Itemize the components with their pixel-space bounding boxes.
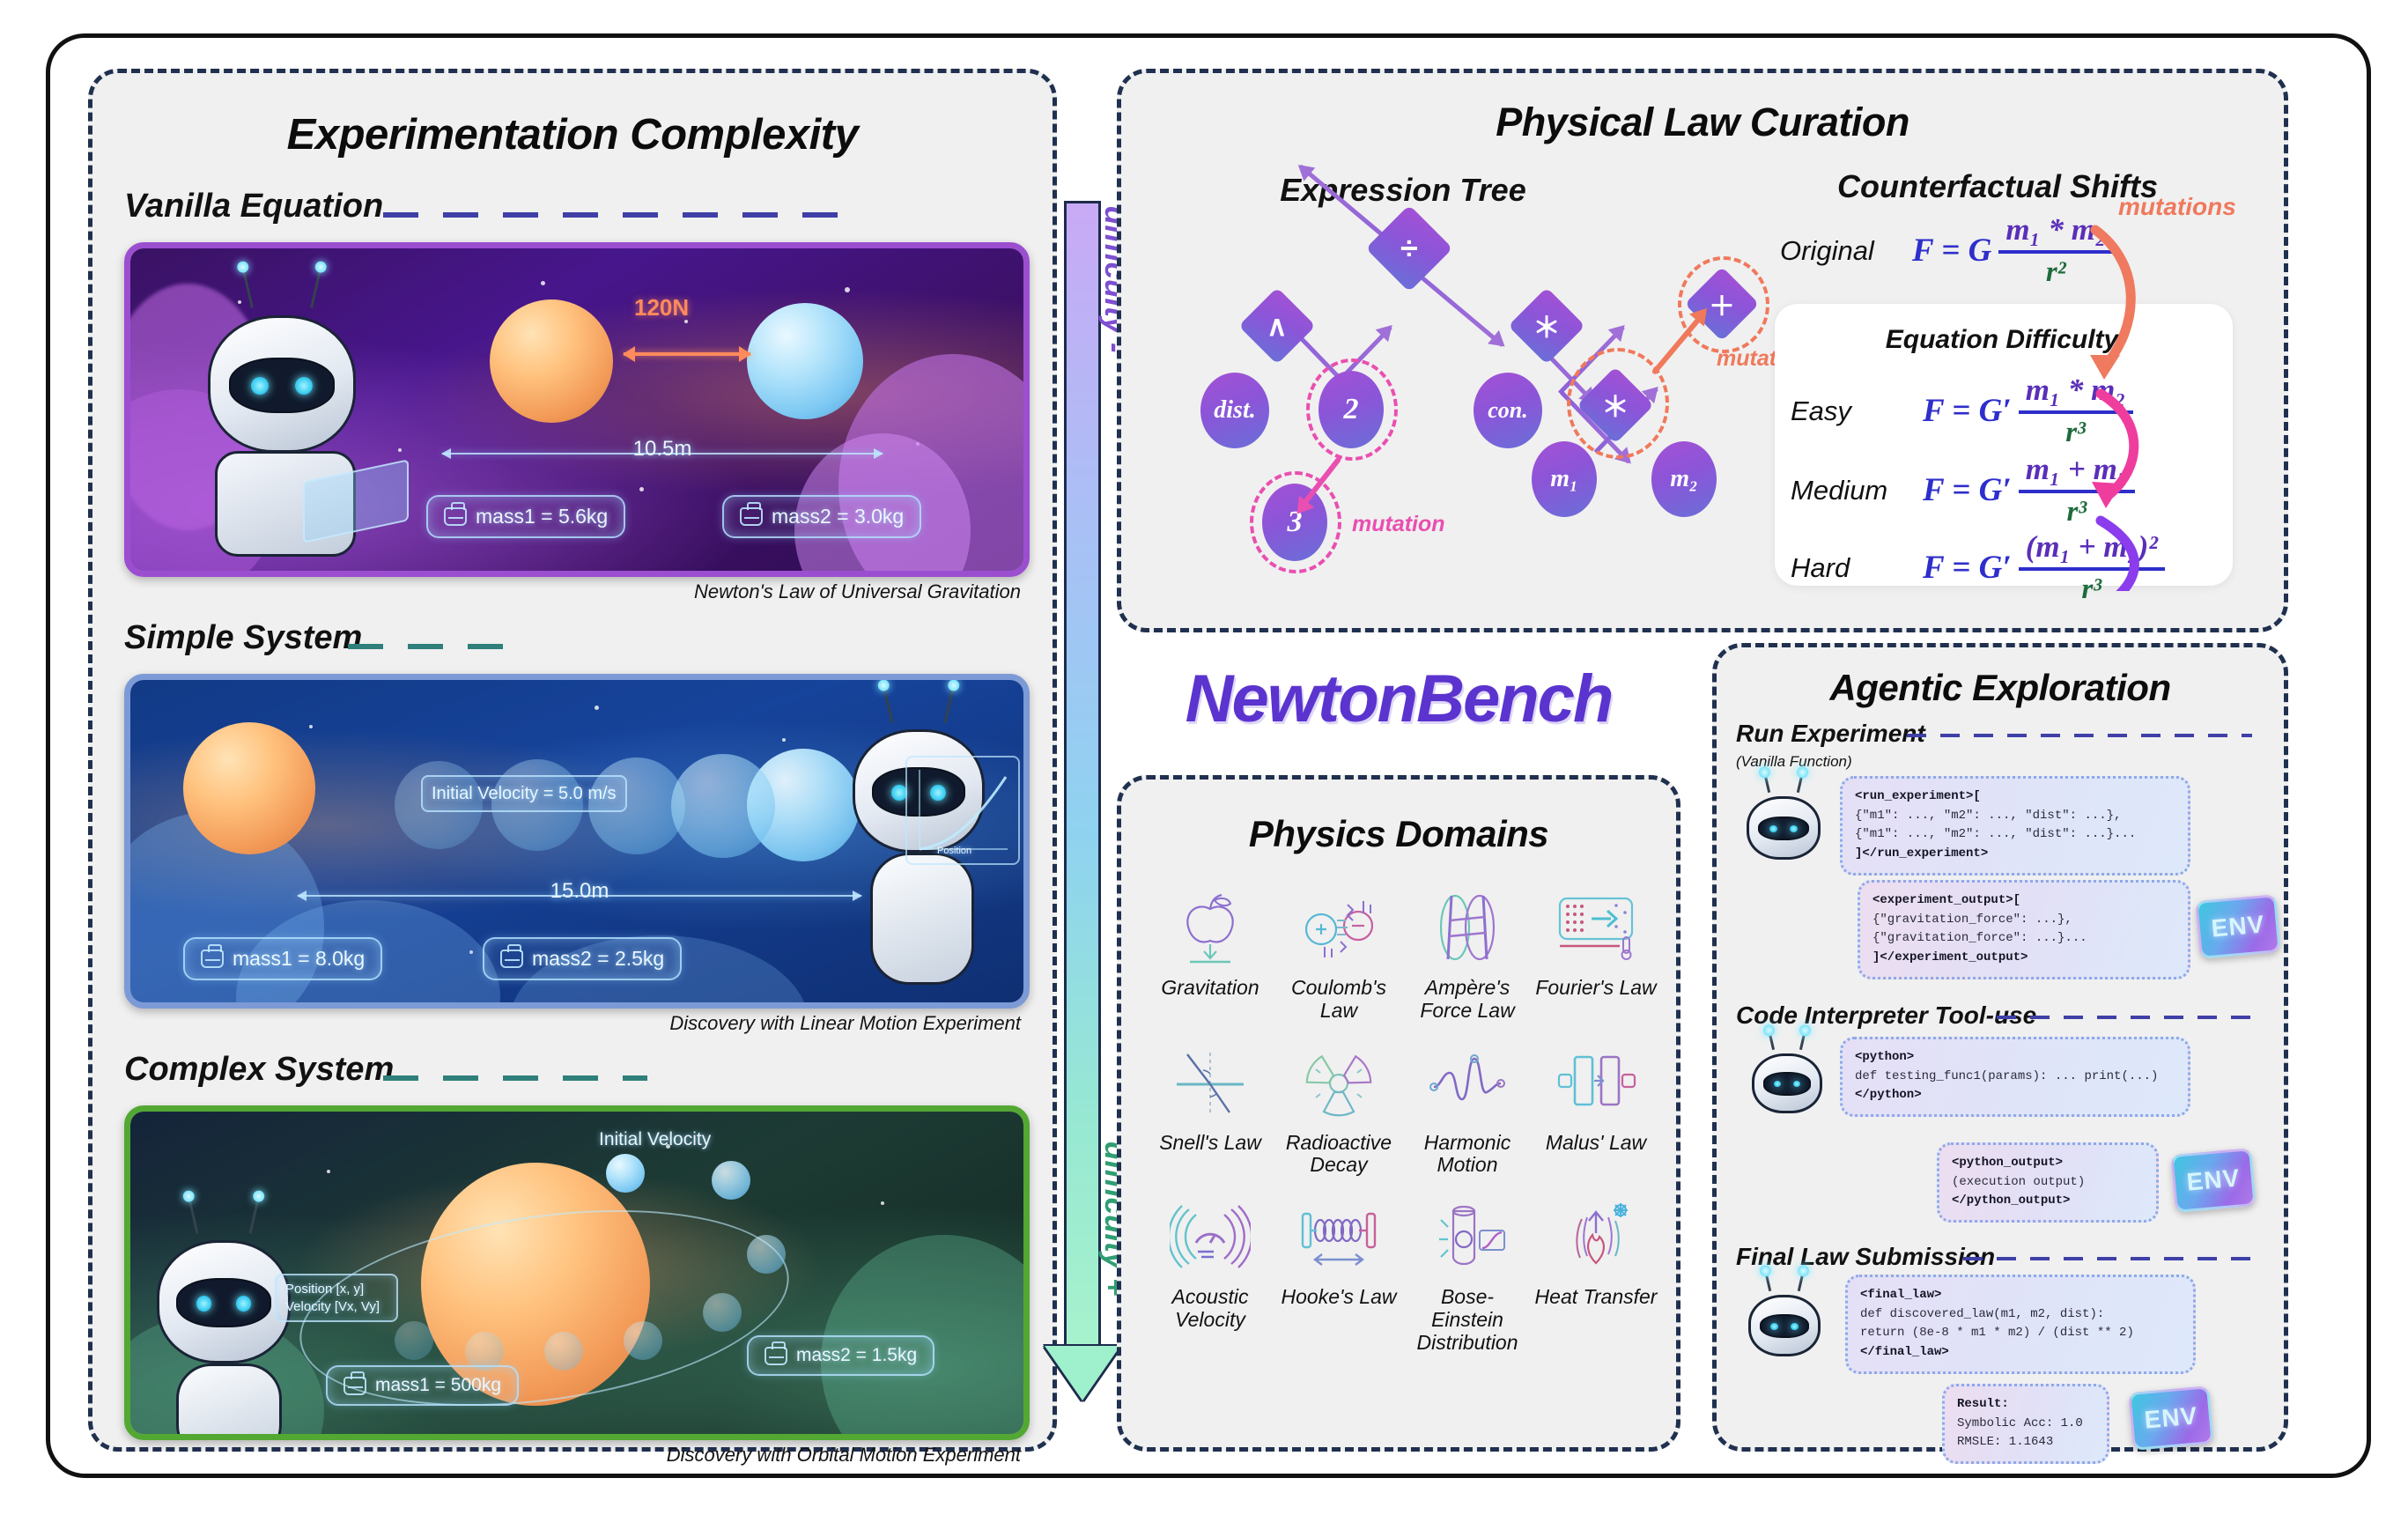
bubble-result: Result: Symbolic Acc: 1.0 RMSLE: 1.1643 xyxy=(1942,1384,2109,1464)
code-line: <python> xyxy=(1855,1050,1914,1064)
mass2-label: mass2 = 3.0kg xyxy=(772,505,904,528)
initial-velocity-label: Initial Velocity xyxy=(599,1129,711,1150)
domain-item-amperes-force-law[interactable]: Ampère's Force Law xyxy=(1403,883,1532,1023)
agentic-exploration-panel: Agentic Exploration Run Experiment (Vani… xyxy=(1712,643,2288,1452)
mass1-label: mass1 = 500kg xyxy=(375,1375,501,1396)
mass2-chip: mass2 = 1.5kg xyxy=(747,1335,934,1376)
page-title: Experimentation Complexity xyxy=(92,110,1053,159)
result-title: Result: xyxy=(1957,1397,2009,1411)
caption-complex: Discovery with Orbital Motion Experiment xyxy=(667,1444,1021,1467)
domains-grid: Gravitation Coulomb' xyxy=(1146,883,1660,1354)
code-line: </final_law> xyxy=(1860,1345,1949,1359)
bubble-final-law: <final_law> def discovered_law(m1, m2, d… xyxy=(1845,1275,2196,1374)
code-line: (execution output) xyxy=(1952,1173,2144,1193)
wave-icon xyxy=(1423,1038,1511,1127)
mutation-highlight-three xyxy=(1250,471,1341,573)
code-line: return (8e-8 * m1 * m2) / (dist ** 2) xyxy=(1860,1324,2181,1343)
difficulty-gradient-bar xyxy=(1064,201,1101,1346)
apple-falling-icon xyxy=(1166,883,1254,972)
mass2-chip: mass2 = 2.5kg xyxy=(483,937,682,980)
heat-flow-icon xyxy=(1552,883,1640,972)
domain-item-harmonic-motion[interactable]: Harmonic Motion xyxy=(1403,1038,1532,1178)
illustration-complex-system: Initial Velocity Position [x, y] Velocit… xyxy=(124,1105,1030,1440)
coil-icon xyxy=(1423,883,1511,972)
distance-measure: 10.5m xyxy=(442,453,883,454)
code-line: <python_output> xyxy=(1952,1156,2063,1170)
divider-simple xyxy=(348,644,524,649)
equation-lhs: F = G′ xyxy=(1923,392,2012,430)
env-badge: ENV xyxy=(2170,1148,2256,1213)
agent-section-subheading: (Vanilla Function) xyxy=(1736,753,1852,771)
tree-node-m1[interactable]: m₁ xyxy=(1532,441,1597,517)
refraction-icon xyxy=(1166,1038,1254,1127)
bubble-python-request: <python> def testing_func1(params): ... … xyxy=(1840,1037,2190,1117)
domain-label: Hooke's Law xyxy=(1282,1286,1397,1309)
tree-node-divide[interactable]: ÷ xyxy=(1366,205,1453,292)
code-line: def testing_func1(params): ... print(...… xyxy=(1855,1068,2175,1087)
state-readout-box: Position [x, y] Velocity [Vx, Vy] xyxy=(275,1274,398,1322)
equation-denominator: r² xyxy=(2046,256,2066,289)
divider-vanilla xyxy=(383,212,850,218)
mutations-label: mutations xyxy=(2118,193,2236,221)
domain-label: Malus' Law xyxy=(1546,1132,1646,1155)
physics-domains-panel: Physics Domains Gravitation xyxy=(1117,775,1680,1452)
initial-velocity-label: Initial Velocity = 5.0 m/s xyxy=(421,775,627,812)
code-line: </python> xyxy=(1855,1088,1922,1102)
domain-item-bose-einstein-distribution[interactable]: Bose-Einstein Distribution xyxy=(1403,1193,1532,1354)
planet-mass1 xyxy=(183,722,315,854)
domain-label: Fourier's Law xyxy=(1535,977,1656,1000)
tree-node-con[interactable]: con. xyxy=(1474,373,1542,448)
mutation-highlight-plus xyxy=(1678,256,1769,353)
code-line: {"gravitation_force": ...}... xyxy=(1872,929,2175,949)
tree-node-power[interactable]: ∧ xyxy=(1238,287,1316,365)
distance-measure: 15.0m xyxy=(298,895,861,897)
divider-code-interpreter xyxy=(1997,1016,2254,1019)
agent-section-heading-run-experiment: Run Experiment xyxy=(1736,720,1925,748)
bubble-experiment-output: <experiment_output>[ {"gravitation_force… xyxy=(1858,880,2190,979)
mass2-chip: mass2 = 3.0kg xyxy=(722,495,921,538)
domain-item-malus-law[interactable]: Malus' Law xyxy=(1532,1038,1660,1178)
mutation-highlight-mul xyxy=(1567,348,1669,459)
sound-waves-icon xyxy=(1166,1193,1254,1281)
equation-lhs: F = G xyxy=(1912,232,1991,270)
illustration-simple-system: Initial Velocity = 5.0 m/s 15.0m mass1 =… xyxy=(124,674,1030,1009)
domain-label: Snell's Law xyxy=(1159,1132,1261,1155)
domain-item-gravitation[interactable]: Gravitation xyxy=(1146,883,1274,1023)
brand-logo: NewtonBench xyxy=(1117,632,1680,765)
domain-item-heat-transfer[interactable]: Heat Transfer xyxy=(1532,1193,1660,1354)
divider-final-law xyxy=(1963,1257,2254,1260)
domain-label: Acoustic Velocity xyxy=(1149,1286,1272,1332)
force-label: 120N xyxy=(634,294,689,321)
equation-label: Original xyxy=(1780,235,1912,267)
equation-label: Easy xyxy=(1791,395,1923,427)
domain-item-coulombs-law[interactable]: Coulomb's Law xyxy=(1274,883,1403,1023)
code-line: ]</experiment_output> xyxy=(1872,950,2028,964)
domain-label: Heat Transfer xyxy=(1535,1286,1658,1309)
code-line: <final_law> xyxy=(1860,1288,1941,1302)
illustration-vanilla-equation: 120N 10.5m mass1 = 5.6kg mass2 = 3.0kg xyxy=(124,242,1030,577)
agent-panel-title: Agentic Exploration xyxy=(1717,667,2284,709)
mini-chart-axis-label: Position xyxy=(937,846,971,856)
caption-simple: Discovery with Linear Motion Experiment xyxy=(669,1012,1021,1035)
result-symbolic-acc: Symbolic Acc: 1.0 xyxy=(1957,1415,2094,1434)
code-line: <experiment_output>[ xyxy=(1872,893,2020,907)
section-heading-vanilla: Vanilla Equation xyxy=(124,188,383,225)
domain-label: Radioactive Decay xyxy=(1277,1132,1400,1178)
agent-section-heading-code-interpreter: Code Interpreter Tool-use xyxy=(1736,1001,2036,1030)
domain-item-hookes-law[interactable]: Hooke's Law xyxy=(1274,1193,1403,1354)
planet-mass2 xyxy=(747,303,863,419)
mass2-label: mass2 = 2.5kg xyxy=(532,947,664,971)
position-label: Position [x, y] xyxy=(285,1281,388,1298)
poster-root: Experimentation Complexity Vanilla Equat… xyxy=(0,0,2408,1515)
code-line: {"gravitation_force": ...}, xyxy=(1872,911,2175,930)
mass1-chip: mass1 = 8.0kg xyxy=(183,937,382,980)
domain-label: Gravitation xyxy=(1161,977,1259,1000)
domains-title: Physics Domains xyxy=(1121,813,1676,855)
env-badge: ENV xyxy=(2195,894,2280,959)
mass1-label: mass1 = 5.6kg xyxy=(476,505,608,528)
mass1-chip: mass1 = 500kg xyxy=(326,1365,519,1406)
equation-lhs: F = G′ xyxy=(1923,549,2012,587)
gas-tube-icon xyxy=(1423,1193,1511,1281)
polarizer-icon xyxy=(1552,1038,1640,1127)
velocity-vector-label: Velocity [Vx, Vy] xyxy=(285,1298,388,1316)
divider-complex xyxy=(383,1075,647,1081)
robot-avatar-vanilla xyxy=(208,294,356,470)
domain-item-snells-law[interactable]: Snell's Law xyxy=(1146,1038,1274,1178)
domain-label: Harmonic Motion xyxy=(1406,1132,1529,1178)
experimentation-complexity-panel: Experimentation Complexity Vanilla Equat… xyxy=(88,69,1057,1452)
equation-lhs: F = G′ xyxy=(1923,471,2012,509)
planet-mass1 xyxy=(490,299,613,423)
mass2-label: mass2 = 1.5kg xyxy=(796,1345,917,1366)
expression-tree-heading: Expression Tree xyxy=(1218,172,1588,209)
mutation-label-left: mutation xyxy=(1352,512,1445,537)
mass1-chip: mass1 = 5.6kg xyxy=(426,495,625,538)
physical-law-curation-panel: Physical Law Curation Expression Tree ÷ … xyxy=(1117,69,2288,632)
tree-node-m2[interactable]: m₂ xyxy=(1651,441,1717,517)
domain-item-radioactive-decay[interactable]: Radioactive Decay xyxy=(1274,1038,1403,1178)
law-panel-title: Physical Law Curation xyxy=(1121,100,2284,145)
robot-avatar-run xyxy=(1747,787,1821,868)
domain-label: Ampère's Force Law xyxy=(1406,977,1529,1023)
mutation-highlight-two xyxy=(1306,358,1398,461)
code-line: ]</run_experiment> xyxy=(1855,846,1988,861)
result-rmsle: RMSLE: 1.1643 xyxy=(1957,1433,2094,1452)
bubble-run-experiment-request: <run_experiment>[ {"m1": ..., "m2": ...,… xyxy=(1840,776,2190,876)
domain-item-fouriers-law[interactable]: Fourier's Law xyxy=(1532,883,1660,1023)
code-line: <run_experiment>[ xyxy=(1855,789,1981,803)
robot-avatar-complex xyxy=(157,1221,291,1379)
agent-section-heading-final-law: Final Law Submission xyxy=(1736,1243,1995,1271)
env-badge: ENV xyxy=(2128,1386,2213,1451)
distance-label: 10.5m xyxy=(623,437,703,462)
mini-chart: Position xyxy=(905,756,1020,865)
bubble-python-output: <python_output> (execution output) </pyt… xyxy=(1937,1142,2159,1223)
caption-vanilla: Newton's Law of Universal Gravitation xyxy=(694,580,1021,603)
flame-icon xyxy=(1552,1193,1640,1281)
force-arrow xyxy=(624,352,750,356)
equation-label: Medium xyxy=(1791,475,1923,506)
section-heading-simple: Simple System xyxy=(124,619,362,657)
mutation-arrows xyxy=(2081,203,2266,591)
radioactive-icon xyxy=(1295,1038,1383,1127)
code-line: def discovered_law(m1, m2, dist): xyxy=(1860,1305,2181,1325)
difficulty-arrowhead xyxy=(1045,1346,1120,1400)
code-line: </python_output> xyxy=(1952,1194,2070,1208)
robot-avatar-code xyxy=(1752,1044,1822,1121)
distance-label: 15.0m xyxy=(540,879,620,904)
spring-icon xyxy=(1295,1193,1383,1281)
mass1-label: mass1 = 8.0kg xyxy=(233,947,365,971)
tree-node-multiply[interactable]: ＊ xyxy=(1508,287,1585,365)
tree-node-dist[interactable]: dist. xyxy=(1200,373,1269,448)
equation-label: Hard xyxy=(1791,552,1923,584)
domain-item-acoustic-velocity[interactable]: Acoustic Velocity xyxy=(1146,1193,1274,1354)
domain-label: Coulomb's Law xyxy=(1277,977,1400,1023)
divider-run-experiment xyxy=(1907,734,2252,737)
code-line: {"m1": ..., "m2": ..., "dist": ...}... xyxy=(1855,825,2175,845)
charges-icon xyxy=(1295,883,1383,972)
section-heading-complex: Complex System xyxy=(124,1051,394,1089)
robot-avatar-final xyxy=(1748,1285,1821,1364)
domain-label: Bose-Einstein Distribution xyxy=(1406,1286,1529,1354)
code-line: {"m1": ..., "m2": ..., "dist": ...}, xyxy=(1855,807,2175,826)
equation-row-original: Original F = G m₁ * m₂ r² xyxy=(1780,212,2113,289)
